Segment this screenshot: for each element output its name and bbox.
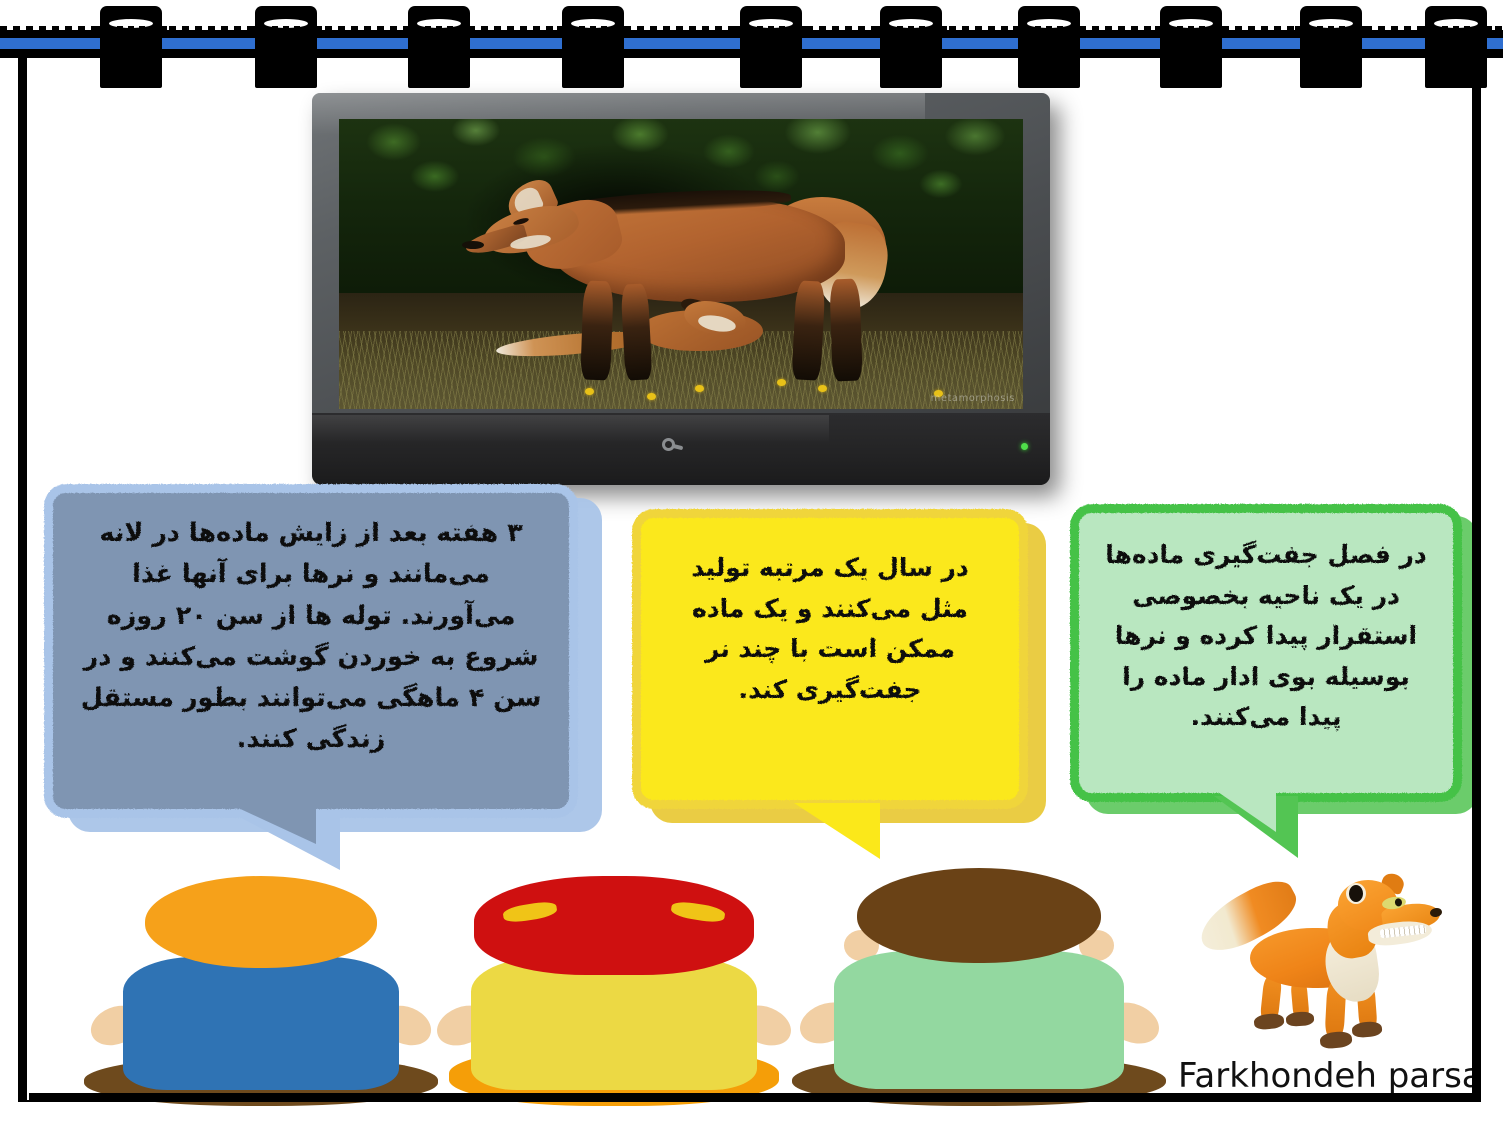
maned-wolf-hind-leg — [791, 281, 825, 381]
child-shirt — [834, 951, 1124, 1089]
slide-canvas: metamorphosis ۳ هفته بعد از زایش ماده‌ها… — [0, 0, 1503, 1128]
binding-ring — [1018, 6, 1080, 88]
flat-screen-tv: metamorphosis — [312, 93, 1050, 485]
binding-ring — [880, 6, 942, 88]
spiral-notebook-binding — [0, 0, 1503, 95]
binding-ring — [740, 6, 802, 88]
photo-watermark: metamorphosis — [931, 393, 1015, 404]
child-yellow-shirt — [455, 876, 773, 1106]
child-blue-shirt — [108, 876, 414, 1106]
fox-nose — [1429, 907, 1442, 918]
binding-ring — [562, 6, 624, 88]
maned-wolf-front-leg — [580, 281, 614, 381]
fox-pupil — [1349, 885, 1363, 902]
speech-bubble-yellow-tail — [760, 803, 880, 859]
fox-paw — [1351, 1021, 1382, 1039]
binding-ring — [1300, 6, 1362, 88]
speech-bubble-yellow[interactable]: در سال یک مرتبه تولید مثل می‌کنند و یک م… — [632, 509, 1028, 809]
maned-wolf-nose — [462, 241, 484, 249]
page-border-bottom — [18, 1093, 1481, 1102]
maned-wolf-hind-leg — [830, 278, 864, 380]
brand-logo-icon — [662, 438, 682, 451]
binding-ring — [255, 6, 317, 88]
tv-lower-highlight — [312, 415, 829, 443]
speech-bubble-blue[interactable]: ۳ هفته بعد از زایش ماده‌ها در لانه می‌ما… — [44, 484, 578, 818]
yellow-flower — [777, 379, 786, 386]
fox-paw — [1253, 1012, 1284, 1030]
speech-bubble-blue-tail-inner — [206, 806, 316, 844]
fox-paw — [1319, 1030, 1352, 1049]
maned-wolf-photo: metamorphosis — [339, 119, 1023, 409]
speech-bubble-green-text: در فصل جفت‌گیری ماده‌ها در یک ناحیه بخصو… — [1101, 535, 1431, 738]
tv-screen: metamorphosis — [339, 119, 1023, 409]
page-border-inner-line — [27, 44, 29, 1100]
power-led-indicator — [1021, 443, 1028, 450]
speech-bubble-green[interactable]: در فصل جفت‌گیری ماده‌ها در یک ناحیه بخصو… — [1070, 504, 1462, 802]
speech-bubble-blue-text: ۳ هفته بعد از زایش ماده‌ها در لانه می‌ما… — [77, 513, 545, 761]
page-border-left — [18, 40, 27, 1102]
yellow-flower — [695, 385, 704, 392]
author-credit: Farkhondeh parsa — [1178, 1056, 1483, 1096]
binding-ring — [1425, 6, 1487, 88]
binding-ring — [1160, 6, 1222, 88]
page-border-right — [1472, 40, 1481, 1102]
child-shirt — [471, 957, 757, 1090]
cartoon-fox-mascot — [1196, 872, 1454, 1052]
yellow-flower — [585, 388, 594, 395]
fox-paw — [1286, 1011, 1315, 1027]
binding-ring — [408, 6, 470, 88]
child-shirt — [123, 957, 398, 1090]
speech-bubble-yellow-text: در سال یک مرتبه تولید مثل می‌کنند و یک م… — [663, 548, 997, 710]
speech-bubble-green-tail-inner — [1196, 792, 1276, 832]
child-hair — [145, 876, 378, 968]
child-hair — [857, 868, 1102, 963]
child-green-shirt — [818, 868, 1140, 1106]
child-hair — [474, 876, 754, 975]
yellow-flower — [818, 385, 827, 392]
binding-ring — [100, 6, 162, 88]
